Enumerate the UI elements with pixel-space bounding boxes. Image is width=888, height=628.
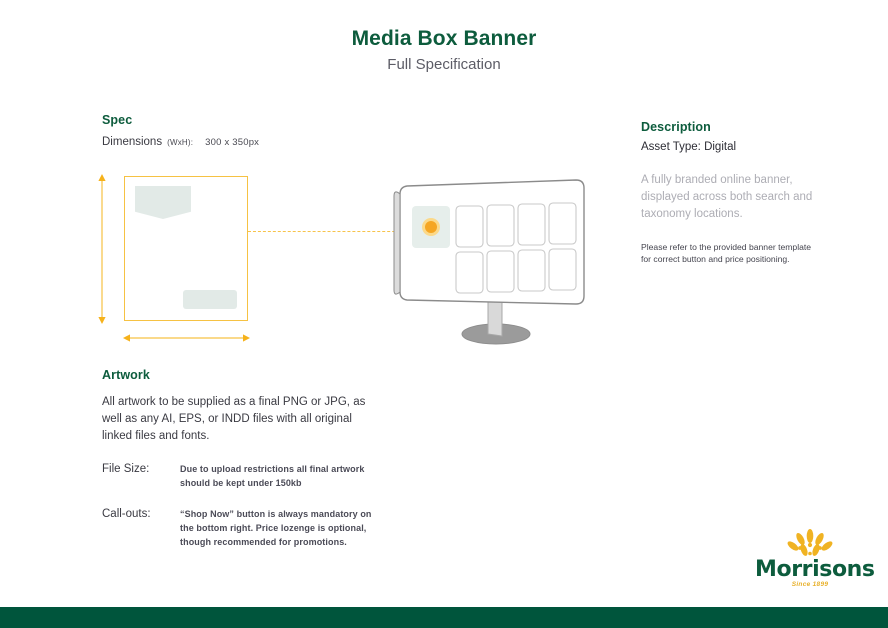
product-tile xyxy=(487,251,514,292)
description-summary: A fully branded online banner, displayed… xyxy=(641,172,816,223)
file-size-label: File Size: xyxy=(102,462,180,490)
dimensions-label: Dimensions xyxy=(102,136,162,148)
dimensions-row: Dimensions (WxH): 300 x 350px xyxy=(102,136,259,148)
footer-bar xyxy=(0,607,888,628)
spec-sheet-page: Media Box Banner Full Specification Spec… xyxy=(0,0,888,628)
dimensions-value: 300 x 350px xyxy=(205,137,259,148)
wheat-dot xyxy=(818,546,822,550)
spec-heading: Spec xyxy=(102,113,259,127)
dimensions-unit: (WxH): xyxy=(167,138,193,147)
product-tile xyxy=(487,205,514,246)
description-section: Description Asset Type: Digital A fully … xyxy=(641,120,816,265)
morrisons-logo: Morrisons Since 1899 xyxy=(755,528,865,590)
media-box-focus-dot xyxy=(425,221,437,233)
artwork-section: Artwork All artwork to be supplied as a … xyxy=(102,368,372,549)
artwork-heading: Artwork xyxy=(102,368,372,382)
artwork-body-text: All artwork to be supplied as a final PN… xyxy=(102,394,372,445)
page-subtitle: Full Specification xyxy=(0,54,888,76)
product-tile xyxy=(518,204,545,245)
wheat-dot xyxy=(808,543,812,547)
monitor-left-edge xyxy=(394,192,400,294)
wheat-dot xyxy=(808,552,812,556)
wheat-petal xyxy=(814,532,826,547)
product-tile xyxy=(549,249,576,290)
wheat-dot xyxy=(798,546,802,550)
height-arrow-head-bottom xyxy=(98,317,105,324)
page-title: Media Box Banner xyxy=(0,26,888,52)
wheat-petal xyxy=(799,543,809,557)
media-box-slot xyxy=(412,206,450,248)
spec-section: Spec Dimensions (WxH): 300 x 350px xyxy=(102,113,259,148)
call-outs-row: Call-outs: “Shop Now” button is always m… xyxy=(102,507,372,549)
file-size-row: File Size: Due to upload restrictions al… xyxy=(102,462,372,490)
page-header: Media Box Banner Full Specification xyxy=(0,26,888,76)
wheat-petal xyxy=(820,540,834,553)
width-arrow-head-left xyxy=(123,334,130,341)
height-arrow-head-top xyxy=(98,174,105,181)
logo-wordmark: Morrisons xyxy=(755,558,865,582)
asset-type-text: Asset Type: Digital xyxy=(641,139,816,155)
description-note: Please refer to the provided banner temp… xyxy=(641,241,816,265)
file-size-value: Due to upload restrictions all final art… xyxy=(180,462,372,490)
call-outs-label: Call-outs: xyxy=(102,507,180,549)
product-tile xyxy=(456,206,483,247)
width-arrow-head-right xyxy=(243,334,250,341)
banner-spec-diagram xyxy=(96,166,376,356)
wheat-petal xyxy=(786,540,800,553)
logo-tagline: Since 1899 xyxy=(755,581,865,588)
monitor-illustration xyxy=(378,178,608,360)
wheat-petals xyxy=(786,529,834,557)
call-outs-value: “Shop Now” button is always mandatory on… xyxy=(180,507,372,549)
product-tile xyxy=(456,252,483,293)
shop-now-button-placeholder xyxy=(183,290,237,309)
wheat-petal xyxy=(811,543,821,557)
price-lozenge-placeholder xyxy=(135,186,191,219)
product-tile xyxy=(518,250,545,291)
wheat-petal xyxy=(795,532,807,547)
description-heading: Description xyxy=(641,120,816,134)
product-tile xyxy=(549,203,576,244)
banner-outline-box xyxy=(124,176,248,321)
wheat-petal xyxy=(807,529,814,543)
